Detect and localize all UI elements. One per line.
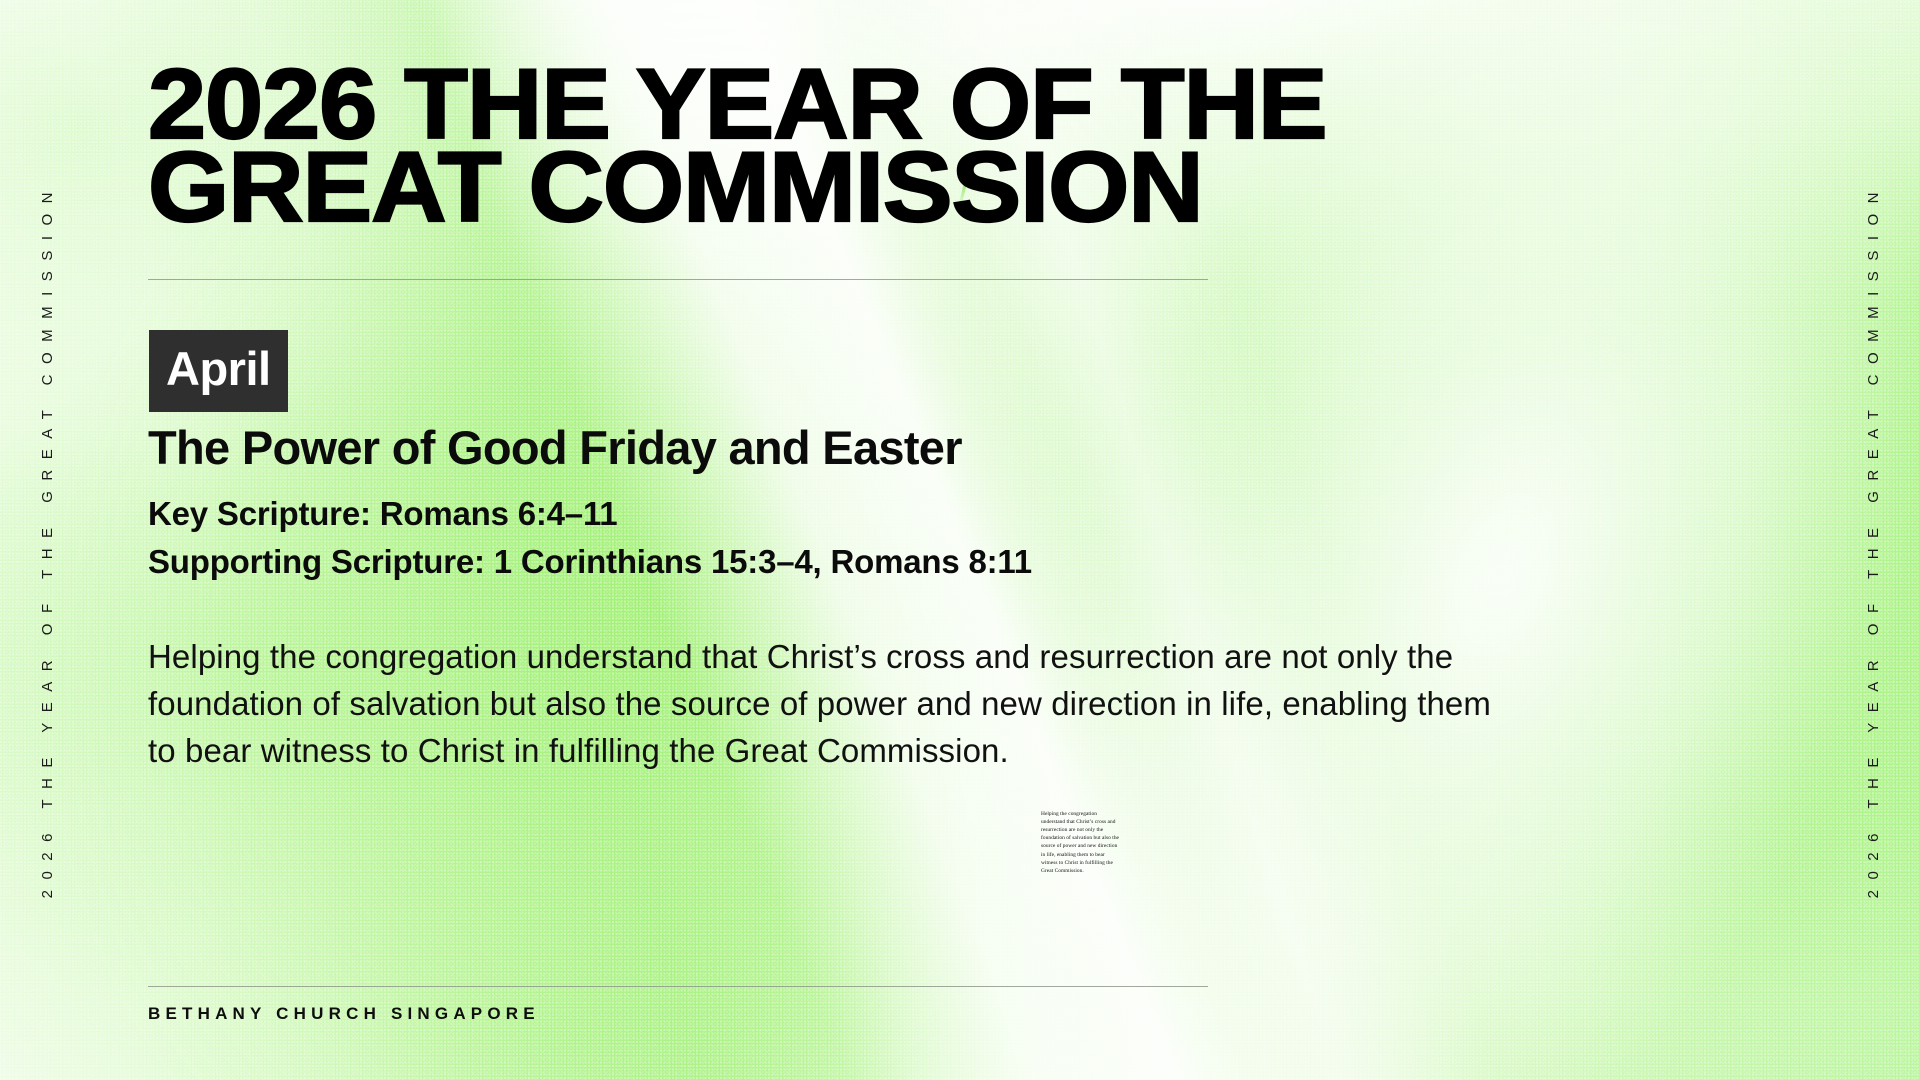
divider-bottom — [148, 986, 1208, 987]
headline-line-2: GREAT COMMISSION — [148, 145, 1741, 228]
vertical-rail-right-text: 2026 THE YEAR OF THE GREAT COMMISSION — [1866, 182, 1881, 898]
body-paragraph: Helping the congregation understand that… — [148, 634, 1518, 775]
vertical-rail-left: 2026 THE YEAR OF THE GREAT COMMISSION — [18, 0, 76, 1080]
section-title: The Power of Good Friday and Easter — [148, 424, 962, 473]
month-badge: April — [149, 330, 288, 412]
key-scripture: Key Scripture: Romans 6:4–11 — [148, 495, 617, 534]
vertical-rail-left-text: 2026 THE YEAR OF THE GREAT COMMISSION — [40, 182, 55, 898]
poster-headline: 2026 THE YEAR OF THE GREAT COMMISSION — [148, 62, 1741, 228]
divider-top — [148, 279, 1208, 280]
poster-canvas: 2026 THE YEAR OF THE GREAT COMMISSION 20… — [0, 0, 1920, 1080]
micro-paragraph: Helping the congregation understand that… — [1041, 810, 1121, 875]
content-column: 2026 THE YEAR OF THE GREAT COMMISSION Ap… — [148, 0, 1772, 1080]
footer-organization: BETHANY CHURCH SINGAPORE — [148, 1004, 540, 1024]
supporting-scripture: Supporting Scripture: 1 Corinthians 15:3… — [148, 543, 1032, 582]
vertical-rail-right: 2026 THE YEAR OF THE GREAT COMMISSION — [1844, 0, 1902, 1080]
